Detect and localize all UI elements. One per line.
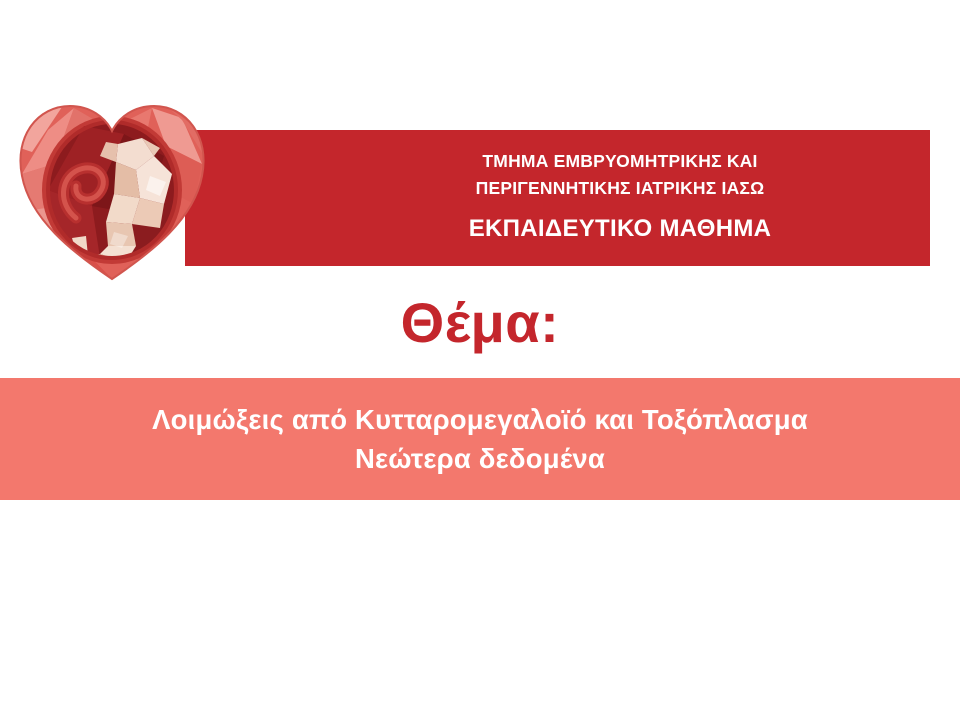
header-band: ΤΜΗΜΑ ΕΜΒΡΥΟΜΗΤΡΙΚΗΣ ΚΑΙ ΠΕΡΙΓΕΝΝΗΤΙΚΗΣ …: [185, 130, 930, 266]
subtitle-line-2: Νεώτερα δεδομένα: [152, 439, 808, 478]
page-title: Θέμα:: [0, 292, 960, 354]
subtitle-line-1: Λοιμώξεις από Κυτταρομεγαλοϊό και Τοξόπλ…: [152, 400, 808, 439]
department-line-1: ΤΜΗΜΑ ΕΜΒΡΥΟΜΗΤΡΙΚΗΣ ΚΑΙ: [330, 148, 910, 175]
header-text-block: ΤΜΗΜΑ ΕΜΒΡΥΟΜΗΤΡΙΚΗΣ ΚΑΙ ΠΕΡΙΓΕΝΝΗΤΙΚΗΣ …: [330, 148, 910, 244]
title-slide: ΤΜΗΜΑ ΕΜΒΡΥΟΜΗΤΡΙΚΗΣ ΚΑΙ ΠΕΡΙΓΕΝΝΗΤΙΚΗΣ …: [0, 0, 960, 720]
subtitle-text-block: Λοιμώξεις από Κυτταρομεγαλοϊό και Τοξόπλ…: [128, 400, 832, 478]
heart-fetus-logo-icon: [14, 86, 210, 286]
subtitle-band: Λοιμώξεις από Κυτταρομεγαλοϊό και Τοξόπλ…: [0, 378, 960, 500]
course-label: ΕΚΠΑΙΔΕΥΤΙΚΟ ΜΑΘΗΜΑ: [330, 213, 910, 244]
department-line-2: ΠΕΡΙΓΕΝΝΗΤΙΚΗΣ ΙΑΤΡΙΚΗΣ ΙΑΣΩ: [330, 175, 910, 202]
